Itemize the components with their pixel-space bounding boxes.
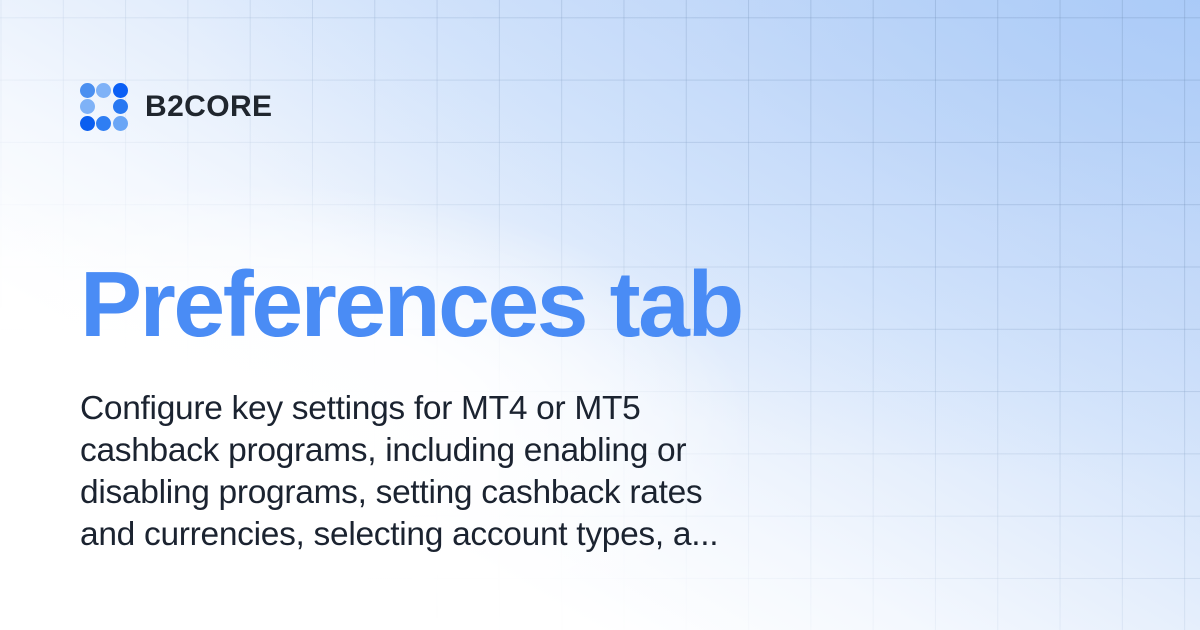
brand-lockup: B2CORE: [80, 83, 272, 131]
card-content: B2CORE Preferences tab Configure key set…: [0, 0, 1200, 630]
logo-dot-middle-center: [96, 99, 111, 114]
logo-dot-bottom-right: [113, 116, 128, 131]
logo-dot-bottom-left: [80, 116, 95, 131]
logo-dot-top-right: [113, 83, 128, 98]
logo-dot-middle-left: [80, 99, 95, 114]
logo-dot-top-left: [80, 83, 95, 98]
logo-dot-bottom-center: [96, 116, 111, 131]
description-line: Configure key settings for MT4 or MT5: [80, 388, 880, 430]
description-line: cashback programs, including enabling or: [80, 430, 880, 472]
brand-name: B2CORE: [145, 92, 272, 122]
description-line: disabling programs, setting cashback rat…: [80, 472, 880, 514]
page-title: Preferences tab: [80, 258, 742, 351]
social-preview-card: B2CORE Preferences tab Configure key set…: [0, 0, 1200, 630]
page-description: Configure key settings for MT4 or MT5 ca…: [80, 388, 880, 556]
logo-dot-top-center: [96, 83, 111, 98]
logo-dot-middle-right: [113, 99, 128, 114]
description-line: and currencies, selecting account types,…: [80, 514, 880, 556]
b2core-dot-grid-logo-icon: [80, 83, 128, 131]
